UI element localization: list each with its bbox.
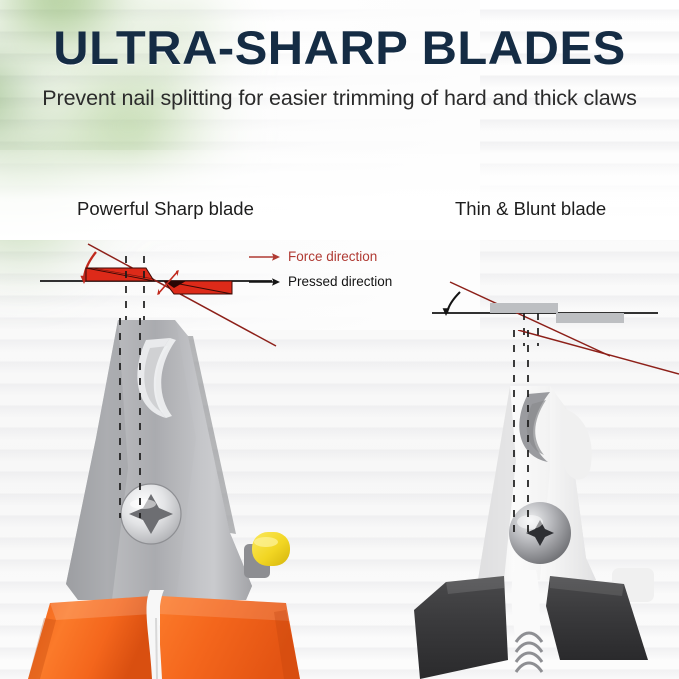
blade-block-left-lower [164,281,232,294]
page-title: ULTRA-SHARP BLADES [0,0,679,71]
arrow-right-icon [248,275,282,289]
angle-arc-right [447,292,460,313]
blunt-blade-product-photo [400,330,679,679]
header: ULTRA-SHARP BLADES Prevent nail splittin… [0,0,679,111]
page-subtitle: Prevent nail splitting for easier trimmi… [0,71,679,111]
legend-item-force: Force direction [248,244,428,269]
sharp-blade-product-photo [0,318,340,679]
diagram-legend: Force direction Pressed direction [248,244,428,294]
screw-highlight-right [517,515,543,529]
safety-lock-left [244,532,290,578]
infographic-canvas: ULTRA-SHARP BLADES Prevent nail splittin… [0,0,679,679]
arrow-right-icon [248,250,282,264]
spring-seam-left [156,618,157,679]
angle-arc-arrowhead-right [443,308,450,316]
right-column-label: Thin & Blunt blade [455,198,606,220]
background-white-veil [0,150,679,240]
screw-highlight-left [130,499,156,509]
blade-block-right-upper [490,303,558,313]
legend-label-force: Force direction [288,250,377,264]
legend-label-pressed: Pressed direction [288,275,392,289]
legend-item-pressed: Pressed direction [248,269,428,294]
force-line-overlay-right [518,330,679,374]
side-lobe-right [562,408,592,480]
blade-block-right-lower [556,313,624,323]
left-column-label: Powerful Sharp blade [77,198,254,220]
